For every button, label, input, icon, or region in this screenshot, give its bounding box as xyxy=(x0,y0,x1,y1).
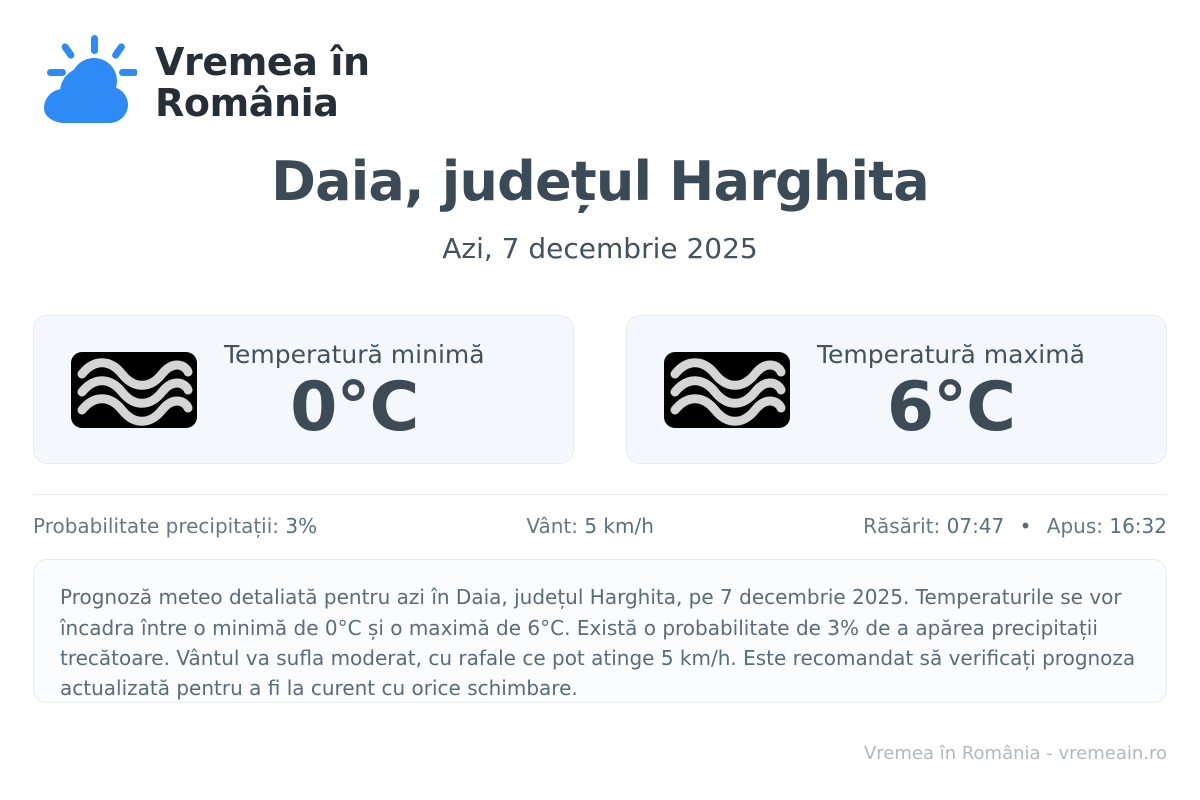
sunrise-value: 07:47 xyxy=(947,514,1005,538)
temperature-cards: Temperatură minimă 0°C Temperatură maxim… xyxy=(33,315,1167,464)
precipitation-stat: Probabilitate precipitații: 3% xyxy=(33,513,317,539)
forecast-description-panel: Prognoză meteo detaliată pentru azi în D… xyxy=(33,559,1167,703)
sun-behind-cloud-icon xyxy=(33,31,137,135)
forecast-description-text: Prognoză meteo detaliată pentru azi în D… xyxy=(60,582,1140,704)
max-temperature-card: Temperatură maximă 6°C xyxy=(626,315,1167,464)
max-temperature-value: 6°C xyxy=(887,372,1015,443)
max-temperature-label: Temperatură maximă xyxy=(817,340,1085,370)
sunrise-label: Răsărit: xyxy=(863,514,940,538)
wind-value: 5 km/h xyxy=(584,514,654,538)
sun-times-stat: Răsărit: 07:47 • Apus: 16:32 xyxy=(863,513,1167,539)
precipitation-value: 3% xyxy=(285,514,317,538)
fog-waves-icon xyxy=(663,351,791,429)
title-block: Daia, județul Harghita Azi, 7 decembrie … xyxy=(33,153,1167,265)
brand-name: Vremea în România xyxy=(155,42,370,124)
stats-row: Probabilitate precipitații: 3% Vânt: 5 k… xyxy=(33,513,1167,539)
wind-label: Vânt: xyxy=(526,514,578,538)
precipitation-label: Probabilitate precipitații: xyxy=(33,514,279,538)
sunset-label: Apus: xyxy=(1047,514,1103,538)
min-temperature-body: Temperatură minimă 0°C xyxy=(224,336,485,443)
footer-credit: Vremea în România - vremeain.ro xyxy=(864,743,1167,764)
page-subtitle: Azi, 7 decembrie 2025 xyxy=(33,232,1167,265)
brand-logo[interactable]: Vremea în România xyxy=(33,0,1167,120)
sunset-value: 16:32 xyxy=(1109,514,1167,538)
wind-stat: Vânt: 5 km/h xyxy=(317,513,863,539)
min-temperature-value: 0°C xyxy=(290,372,418,443)
bullet-separator-icon: • xyxy=(1011,514,1041,538)
max-temperature-body: Temperatură maximă 6°C xyxy=(817,336,1085,443)
weather-page: Vremea în România Daia, județul Harghita… xyxy=(0,0,1200,800)
fog-waves-icon xyxy=(70,351,198,429)
page-title: Daia, județul Harghita xyxy=(33,153,1167,211)
min-temperature-card: Temperatură minimă 0°C xyxy=(33,315,574,464)
divider xyxy=(33,494,1167,495)
min-temperature-label: Temperatură minimă xyxy=(224,340,485,370)
